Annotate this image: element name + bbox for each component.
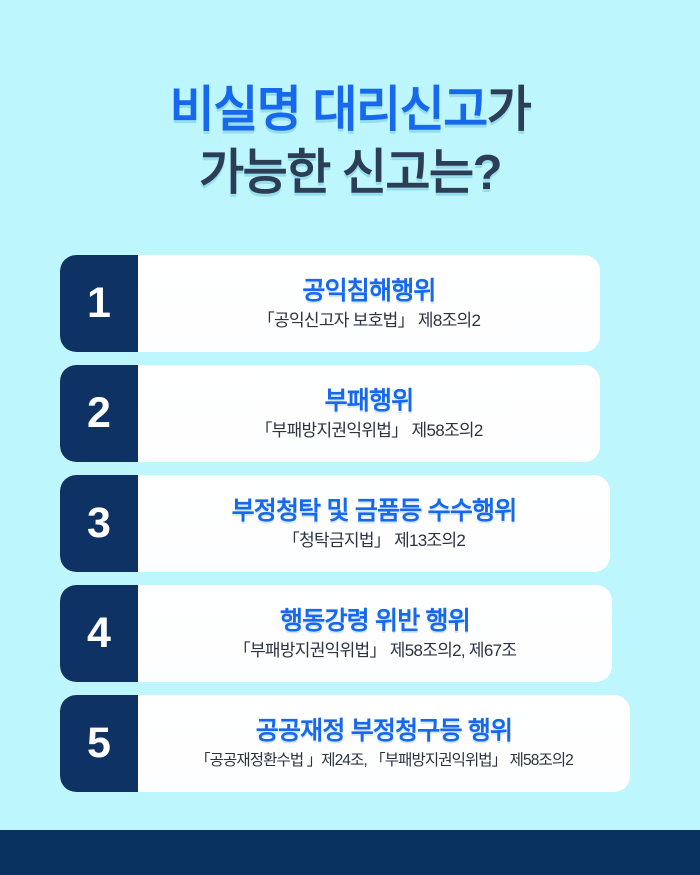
- item-number-badge: 2: [60, 365, 138, 462]
- item-number: 4: [87, 612, 111, 655]
- list-item[interactable]: 2 부패행위 「부패방지권익위법」 제58조의2: [0, 365, 700, 462]
- report-card[interactable]: 4 행동강령 위반 행위 「부패방지권익위법」 제58조의2, 제67조: [60, 585, 612, 682]
- item-legal-reference: 「부패방지권익위법」 제58조의2, 제67조: [234, 642, 517, 661]
- title-line1-tail: 가: [487, 83, 531, 137]
- report-card[interactable]: 5 공공재정 부정청구등 행위 「공공재정환수법 」제24조, 「부패방지권익위…: [60, 695, 630, 792]
- card-body: 부정청탁 및 금품등 수수행위 「청탁금지법」 제13조의2: [138, 475, 610, 572]
- report-card[interactable]: 3 부정청탁 및 금품등 수수행위 「청탁금지법」 제13조의2: [60, 475, 610, 572]
- item-title: 행동강령 위반 행위: [280, 607, 470, 635]
- page-title: 비실명 대리신고가 가능한 신고는?: [0, 86, 700, 198]
- item-number: 2: [87, 392, 111, 435]
- report-type-list: 1 공익침해행위 「공익신고자 보호법」 제8조의2 2 부패행위 「부패방지권…: [0, 255, 700, 805]
- card-body: 공공재정 부정청구등 행위 「공공재정환수법 」제24조, 「부패방지권익위법」…: [138, 695, 630, 792]
- report-card[interactable]: 1 공익침해행위 「공익신고자 보호법」 제8조의2: [60, 255, 600, 352]
- item-title: 공공재정 부정청구등 행위: [256, 717, 513, 745]
- report-card[interactable]: 2 부패행위 「부패방지권익위법」 제58조의2: [60, 365, 600, 462]
- item-number: 3: [87, 502, 111, 545]
- item-legal-reference: 「청탁금지법」 제13조의2: [283, 532, 465, 551]
- card-body: 부패행위 「부패방지권익위법」 제58조의2: [138, 365, 600, 462]
- bottom-bar: [0, 830, 700, 875]
- item-legal-reference: 「공익신고자 보호법」 제8조의2: [258, 312, 481, 331]
- item-number-badge: 3: [60, 475, 138, 572]
- title-line-1: 비실명 대리신고가: [0, 86, 700, 135]
- card-body: 공익침해행위 「공익신고자 보호법」 제8조의2: [138, 255, 600, 352]
- item-number: 1: [87, 282, 111, 325]
- title-line-2: 가능한 신고는?: [0, 149, 700, 198]
- item-legal-reference: 「공공재정환수법 」제24조, 「부패방지권익위법」 제58조의2: [195, 752, 573, 769]
- item-number: 5: [87, 722, 111, 765]
- item-title: 공익침해행위: [302, 277, 435, 305]
- infographic-page: 비실명 대리신고가 가능한 신고는? 1 공익침해행위 「공익신고자 보호법」 …: [0, 0, 700, 875]
- list-item[interactable]: 5 공공재정 부정청구등 행위 「공공재정환수법 」제24조, 「부패방지권익위…: [0, 695, 700, 792]
- item-number-badge: 5: [60, 695, 138, 792]
- item-number-badge: 1: [60, 255, 138, 352]
- list-item[interactable]: 3 부정청탁 및 금품등 수수행위 「청탁금지법」 제13조의2: [0, 475, 700, 572]
- list-item[interactable]: 4 행동강령 위반 행위 「부패방지권익위법」 제58조의2, 제67조: [0, 585, 700, 682]
- item-title: 부패행위: [325, 387, 414, 415]
- item-legal-reference: 「부패방지권익위법」 제58조의2: [255, 422, 482, 441]
- item-title: 부정청탁 및 금품등 수수행위: [232, 497, 517, 525]
- list-item[interactable]: 1 공익침해행위 「공익신고자 보호법」 제8조의2: [0, 255, 700, 352]
- item-number-badge: 4: [60, 585, 138, 682]
- title-highlight: 비실명 대리신고: [170, 83, 487, 137]
- card-body: 행동강령 위반 행위 「부패방지권익위법」 제58조의2, 제67조: [138, 585, 612, 682]
